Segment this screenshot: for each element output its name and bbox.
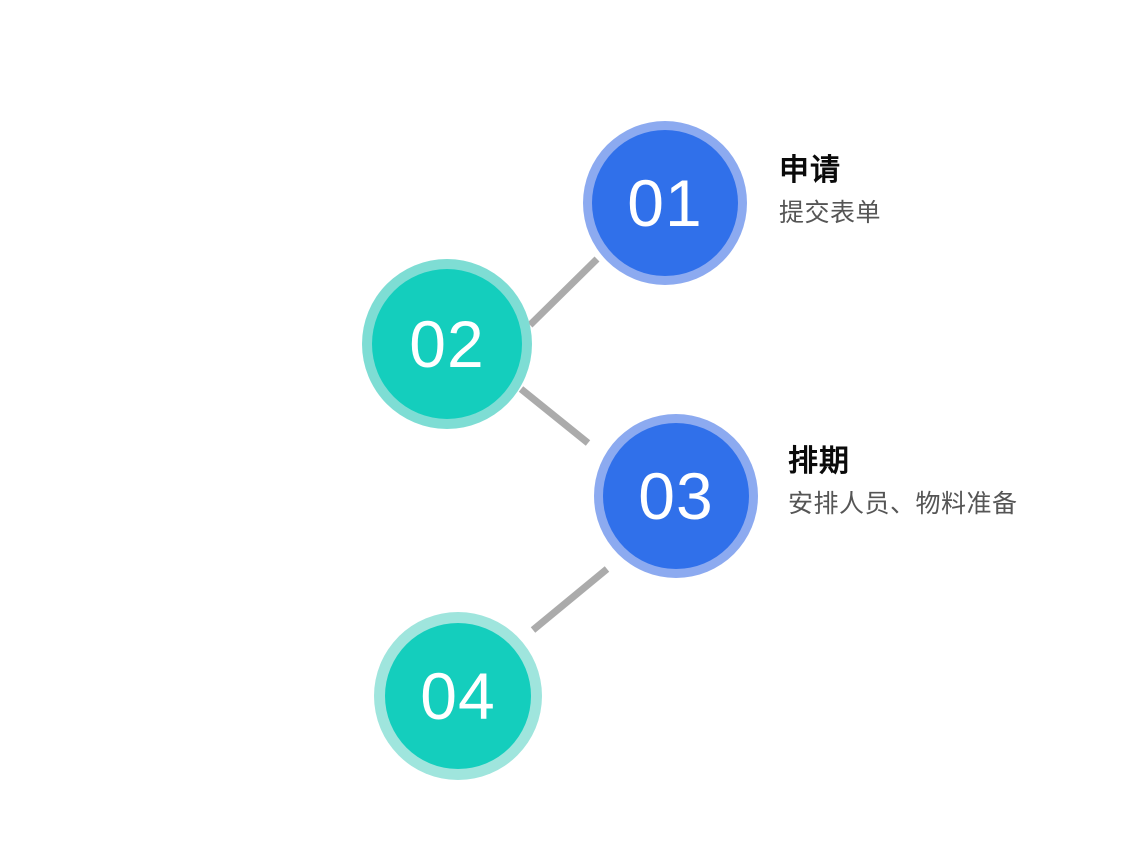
- step-text-01: 申请 提交表单: [779, 152, 881, 229]
- step-number-01: 01: [627, 170, 702, 236]
- step-number-04: 04: [420, 663, 495, 729]
- step-circle-04-inner: 04: [385, 623, 531, 769]
- process-flow-diagram: 01 申请 提交表单 02 审核 禾工市场部进行审核 03 排期 安排人员、物料…: [0, 0, 1137, 862]
- connector-line-02-to-03: [521, 389, 588, 443]
- step-subtitle-03: 安排人员、物料准备: [788, 488, 1018, 521]
- step-circle-03[interactable]: 03: [594, 414, 758, 578]
- connector-line-04-to-03: [533, 569, 607, 630]
- step-circle-02-inner: 02: [372, 269, 522, 419]
- step-circle-01-inner: 01: [592, 130, 738, 276]
- step-subtitle-01: 提交表单: [779, 197, 881, 230]
- step-text-03: 排期 安排人员、物料准备: [788, 443, 1018, 520]
- step-title-01: 申请: [779, 152, 881, 190]
- step-circle-03-inner: 03: [603, 423, 749, 569]
- step-title-03: 排期: [788, 443, 1018, 481]
- connector-lines: [0, 0, 1137, 862]
- connector-line-02-to-01: [530, 259, 597, 325]
- step-number-03: 03: [638, 463, 713, 529]
- step-circle-04[interactable]: 04: [374, 612, 542, 780]
- step-circle-01[interactable]: 01: [583, 121, 747, 285]
- step-circle-02[interactable]: 02: [362, 259, 532, 429]
- step-number-02: 02: [409, 311, 484, 377]
